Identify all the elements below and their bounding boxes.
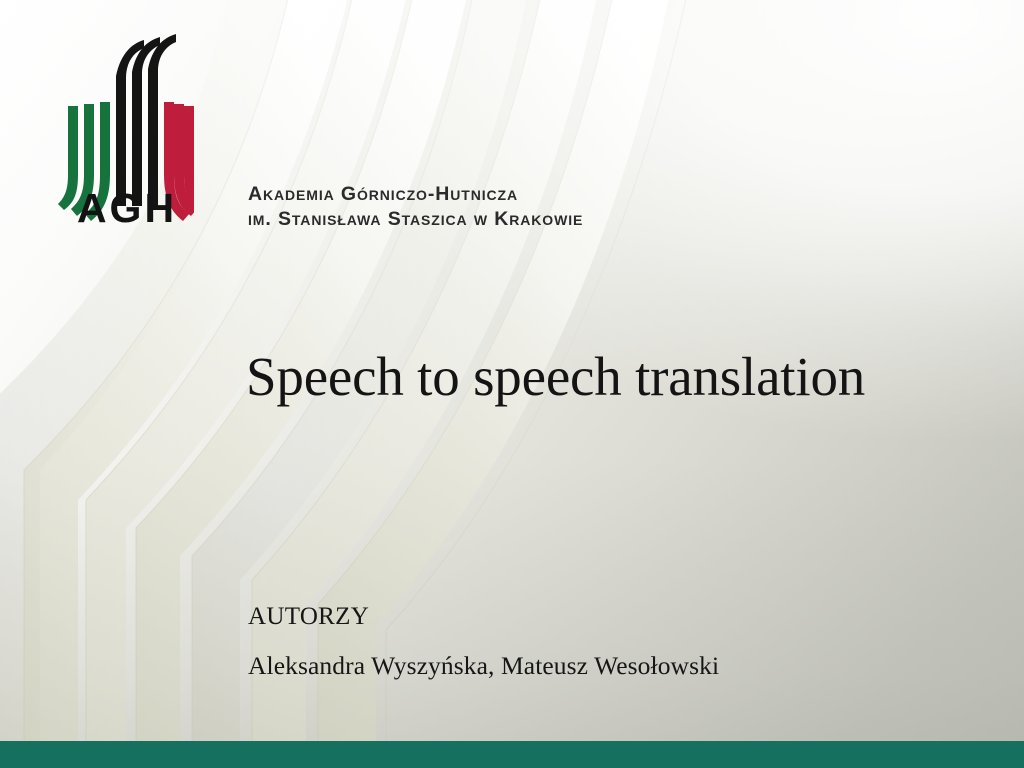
institution-line-2: im. Stanisława Staszica w Krakowie (248, 207, 583, 232)
institution-line-1: Akademia Górniczo-Hutnicza (248, 182, 583, 207)
institution-name: Akademia Górniczo-Hutnicza im. Stanisław… (248, 182, 583, 232)
authors-label: AUTORZY (248, 600, 948, 634)
title-slide: AGH Akademia Górniczo-Hutnicza im. Stani… (0, 0, 1024, 768)
footer-bar (0, 741, 1024, 768)
slide-title: Speech to speech translation (246, 350, 866, 404)
authors-block: AUTORZY Aleksandra Wyszyńska, Mateusz We… (248, 600, 948, 683)
agh-wordmark: AGH (60, 188, 194, 229)
authors-names: Aleksandra Wyszyńska, Mateusz Wesołowski (248, 649, 948, 683)
